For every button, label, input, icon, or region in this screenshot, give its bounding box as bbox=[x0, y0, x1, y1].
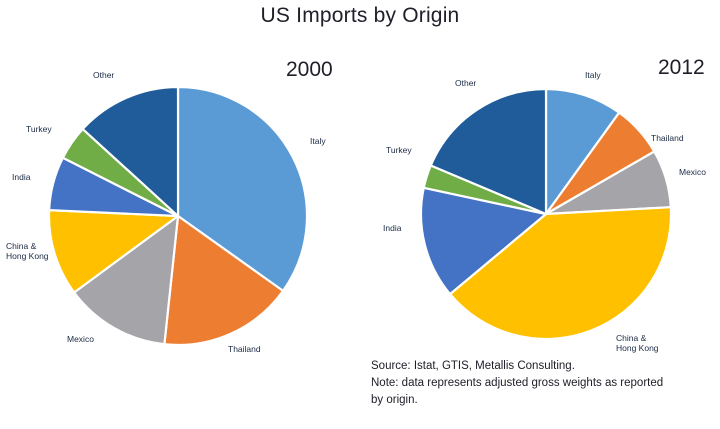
source-line-2: Note: data represents adjusted gross wei… bbox=[371, 375, 711, 392]
pie-chart-2012 bbox=[418, 86, 674, 342]
pie-2000-svg bbox=[46, 84, 310, 348]
year-label-2012: 2012 bbox=[658, 56, 705, 80]
slice-label-mexico-2012: Mexico bbox=[679, 167, 706, 177]
year-label-2000: 2000 bbox=[286, 58, 333, 82]
page-title: US Imports by Origin bbox=[0, 4, 720, 28]
chart-canvas: US Imports by Origin 2000 2012 Source: I… bbox=[0, 0, 720, 429]
slice-label-other-2000: Other bbox=[93, 70, 114, 80]
pie-2012-svg bbox=[418, 86, 674, 342]
source-note: Source: Istat, GTIS, Metallis Consulting… bbox=[371, 358, 711, 409]
slice-label-turkey-2000: Turkey bbox=[26, 124, 52, 134]
slice-label-italy-2000: Italy bbox=[310, 136, 326, 146]
slice-label-thailand-2012: Thailand bbox=[651, 133, 684, 143]
slice-label-thailand-2000: Thailand bbox=[228, 344, 261, 354]
source-line-3: by origin. bbox=[371, 392, 711, 409]
source-line-1: Source: Istat, GTIS, Metallis Consulting… bbox=[371, 358, 711, 375]
slice-label-china-2012: China & Hong Kong bbox=[616, 333, 659, 353]
slice-label-india-2000: India bbox=[12, 172, 30, 182]
slice-label-mexico-2000: Mexico bbox=[67, 334, 94, 344]
slice-label-other-2012: Other bbox=[455, 78, 476, 88]
pie-chart-2000 bbox=[46, 84, 310, 348]
slice-label-turkey-2012: Turkey bbox=[386, 145, 412, 155]
slice-label-italy-2012: Italy bbox=[585, 70, 601, 80]
slice-label-china-2000: China & Hong Kong bbox=[6, 241, 49, 261]
slice-label-india-2012: India bbox=[383, 223, 401, 233]
